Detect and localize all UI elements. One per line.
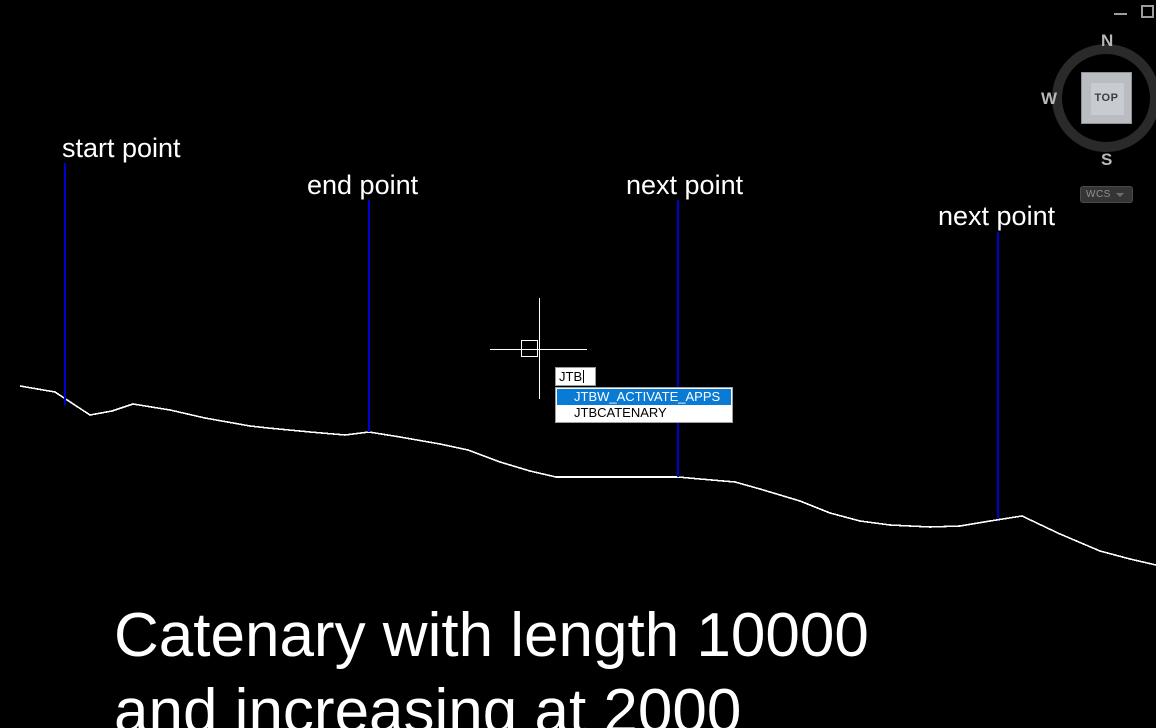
compass-west-label[interactable]: W [1041,90,1057,107]
viewcube-top-face[interactable]: TOP [1081,72,1132,124]
point-label-4: next point [938,203,1055,230]
command-autocomplete-list[interactable]: JTBW_ACTIVATE_APPSJTBCATENARY [555,387,733,423]
window-controls[interactable] [1114,0,1156,22]
viewcube[interactable]: N S W TOP [1052,32,1156,164]
point-label-3: next point [626,172,743,199]
viewcube-face-label: TOP [1082,73,1131,123]
compass-south-label[interactable]: S [1101,151,1112,168]
compass-north-label[interactable]: N [1101,32,1113,49]
ucs-selector-label: WCS [1086,190,1111,200]
text-caret [583,370,584,383]
command-input-text: JTB [559,370,582,383]
maximize-button[interactable] [1141,5,1154,18]
point-label-2: end point [307,172,418,199]
crosshair-vertical-line [539,298,541,399]
caption-line-2: and increasing at 2000 [114,674,869,728]
drawing-viewport[interactable]: start pointend pointnext pointnext point… [0,0,1156,728]
caption-text: Catenary with length 10000 and increasin… [114,598,869,728]
minimize-button[interactable] [1114,13,1127,15]
autocomplete-item-2[interactable]: JTBCATENARY [557,405,731,421]
point-label-1: start point [62,135,181,162]
autocomplete-item-1[interactable]: JTBW_ACTIVATE_APPS [557,389,731,405]
command-input[interactable]: JTB [555,367,596,386]
chevron-down-icon [1116,193,1124,197]
caption-line-1: Catenary with length 10000 [114,598,869,674]
pickbox [521,340,538,357]
ucs-selector[interactable]: WCS [1080,186,1133,203]
